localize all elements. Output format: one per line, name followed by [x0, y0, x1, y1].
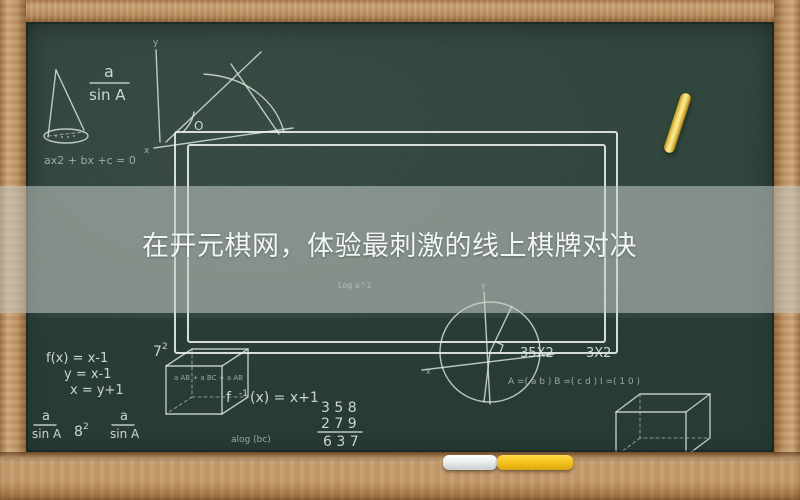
chalk-fraction-a-sina-2: a sin A [32, 409, 62, 441]
svg-text:8: 8 [74, 424, 83, 440]
svg-text:6 3 7: 6 3 7 [323, 434, 359, 450]
svg-text:a: a [120, 409, 128, 424]
svg-text:f(x) = x-1: f(x) = x-1 [46, 351, 108, 366]
svg-text:Log a^1: Log a^1 [338, 281, 372, 290]
svg-text:2 7 9: 2 7 9 [321, 416, 357, 432]
svg-text:alog (bc): alog (bc) [231, 435, 271, 445]
svg-text:sin A: sin A [110, 427, 140, 441]
svg-text:f: f [226, 390, 232, 406]
chalk-matrix-row: A =( a b ) B =( c d ) I =( 1 0 ) [508, 377, 640, 387]
svg-text:x: x [426, 367, 431, 376]
svg-text:a: a [42, 409, 50, 424]
chalk-log-label: Log a^1 [338, 281, 372, 290]
chalk-angle-diagram: y x O [144, 38, 293, 156]
chalk-inverse-function: f -1 (x) = x+1 [226, 389, 319, 406]
chalk-label-35x2: 35X2 [520, 346, 554, 361]
svg-text:sin A: sin A [89, 86, 126, 104]
chalk-cube-left [166, 349, 248, 414]
blackboard-banner: .ck { fill:none; stroke:#e3eae4; stroke-… [0, 0, 800, 500]
chalk-cone [44, 70, 88, 143]
chalk-cube-right [616, 394, 710, 452]
chalk-alog-label: alog (bc) [231, 435, 271, 445]
chalk-eight-squared: 8 2 [74, 422, 89, 440]
frame-right-rail [774, 0, 800, 500]
svg-text:x: x [144, 146, 150, 156]
chalk-function-equations: f(x) = x-1 y = x-1 x = y+1 [46, 351, 124, 398]
chalk-quadratic-equation: ax2 + bx +c = 0 [44, 154, 136, 167]
frame-top-rail [0, 0, 800, 22]
svg-text:35X2: 35X2 [520, 346, 554, 361]
chalk-fraction-a-sina-1: a sin A [89, 62, 129, 104]
chalk-circle-axes: y x [422, 281, 554, 404]
svg-text:y: y [153, 38, 159, 48]
svg-text:a AB + a BC + a AB: a AB + a BC + a AB [174, 374, 243, 382]
svg-text:2: 2 [83, 422, 89, 432]
chalk-small-expression: a AB + a BC + a AB [174, 374, 243, 382]
chalk-long-division: 3 5 8 2 7 9 6 3 7 [318, 400, 362, 450]
chalk-seven-squared: 7 2 [153, 342, 168, 360]
svg-text:(x) = x+1: (x) = x+1 [250, 390, 319, 406]
svg-text:O: O [194, 119, 203, 133]
board-lower-shade [26, 318, 774, 452]
svg-text:A =( a b ) B =( c d ) I =( 1: A =( a b ) B =( c d ) I =( 1 0 ) [508, 377, 640, 387]
frame-left-rail [0, 0, 26, 500]
banner-headline: 在开元棋网，体验最刺激的线上棋牌对决 [142, 232, 637, 262]
svg-text:7: 7 [153, 344, 162, 360]
svg-text:2: 2 [162, 342, 168, 352]
svg-text:x = y+1: x = y+1 [70, 383, 124, 398]
svg-text:y = x-1: y = x-1 [64, 367, 112, 382]
chalk-stick-white-icon [443, 455, 497, 470]
svg-text:3X2: 3X2 [586, 346, 611, 361]
svg-text:sin A: sin A [32, 427, 62, 441]
chalk-tray [0, 458, 800, 500]
svg-text:a: a [104, 62, 114, 81]
chalk-stick-yellow-tray-icon [497, 455, 573, 470]
svg-text:3 5 8: 3 5 8 [321, 400, 357, 416]
svg-text:y: y [481, 281, 486, 290]
svg-text:-1: -1 [239, 389, 248, 399]
chalk-label-3x2: 3X2 [586, 346, 611, 361]
chalk-fraction-a-sina-3: a sin A [110, 409, 140, 441]
svg-text:ax2 + bx +c = 0: ax2 + bx +c = 0 [44, 154, 136, 167]
